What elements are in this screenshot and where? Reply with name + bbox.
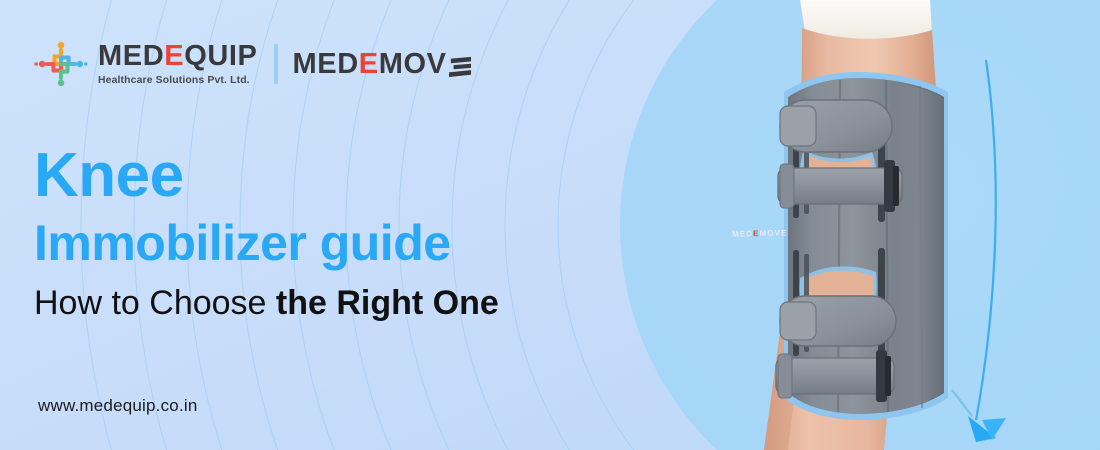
brace-side-panel bbox=[892, 82, 944, 411]
website-url[interactable]: www.medequip.co.in bbox=[38, 396, 198, 416]
strap-4-bottom-buckle bbox=[776, 350, 894, 402]
medequip-wordmark: MEDEQUIP Healthcare Solutions Pvt. Ltd. bbox=[98, 42, 258, 86]
medequip-name: MEDEQUIP bbox=[98, 42, 258, 72]
stylized-e-icon bbox=[449, 54, 471, 76]
subheading: How to Choose the Right One bbox=[34, 285, 499, 322]
logo-wordmarks: MEDEQUIP Healthcare Solutions Pvt. Ltd. … bbox=[98, 37, 471, 91]
mededmove-wordmark: MEDEMOV bbox=[293, 50, 471, 79]
knee-brace-illustration bbox=[680, 0, 1100, 450]
strap-1-top bbox=[780, 100, 892, 152]
product-image-knee-immobilizer: MEDEMOVE bbox=[680, 0, 1100, 450]
medequip-pinwheel-logo-icon bbox=[34, 37, 88, 91]
brand-logo-row[interactable]: MEDEQUIP Healthcare Solutions Pvt. Ltd. … bbox=[34, 36, 471, 92]
headline-line-2: Immobilizer guide bbox=[34, 218, 451, 268]
accent-curve bbox=[976, 60, 996, 420]
headline-line-1: Knee bbox=[34, 145, 184, 207]
subheading-light: How to Choose bbox=[34, 284, 276, 322]
strap-2-buckle bbox=[778, 160, 902, 212]
logo-divider bbox=[274, 44, 278, 84]
marketing-banner: MEDEMOVE bbox=[0, 0, 1100, 450]
medequip-tagline: Healthcare Solutions Pvt. Ltd. bbox=[98, 75, 258, 86]
subheading-bold: the Right One bbox=[276, 284, 499, 322]
strap-3-lower-pad bbox=[780, 296, 896, 346]
